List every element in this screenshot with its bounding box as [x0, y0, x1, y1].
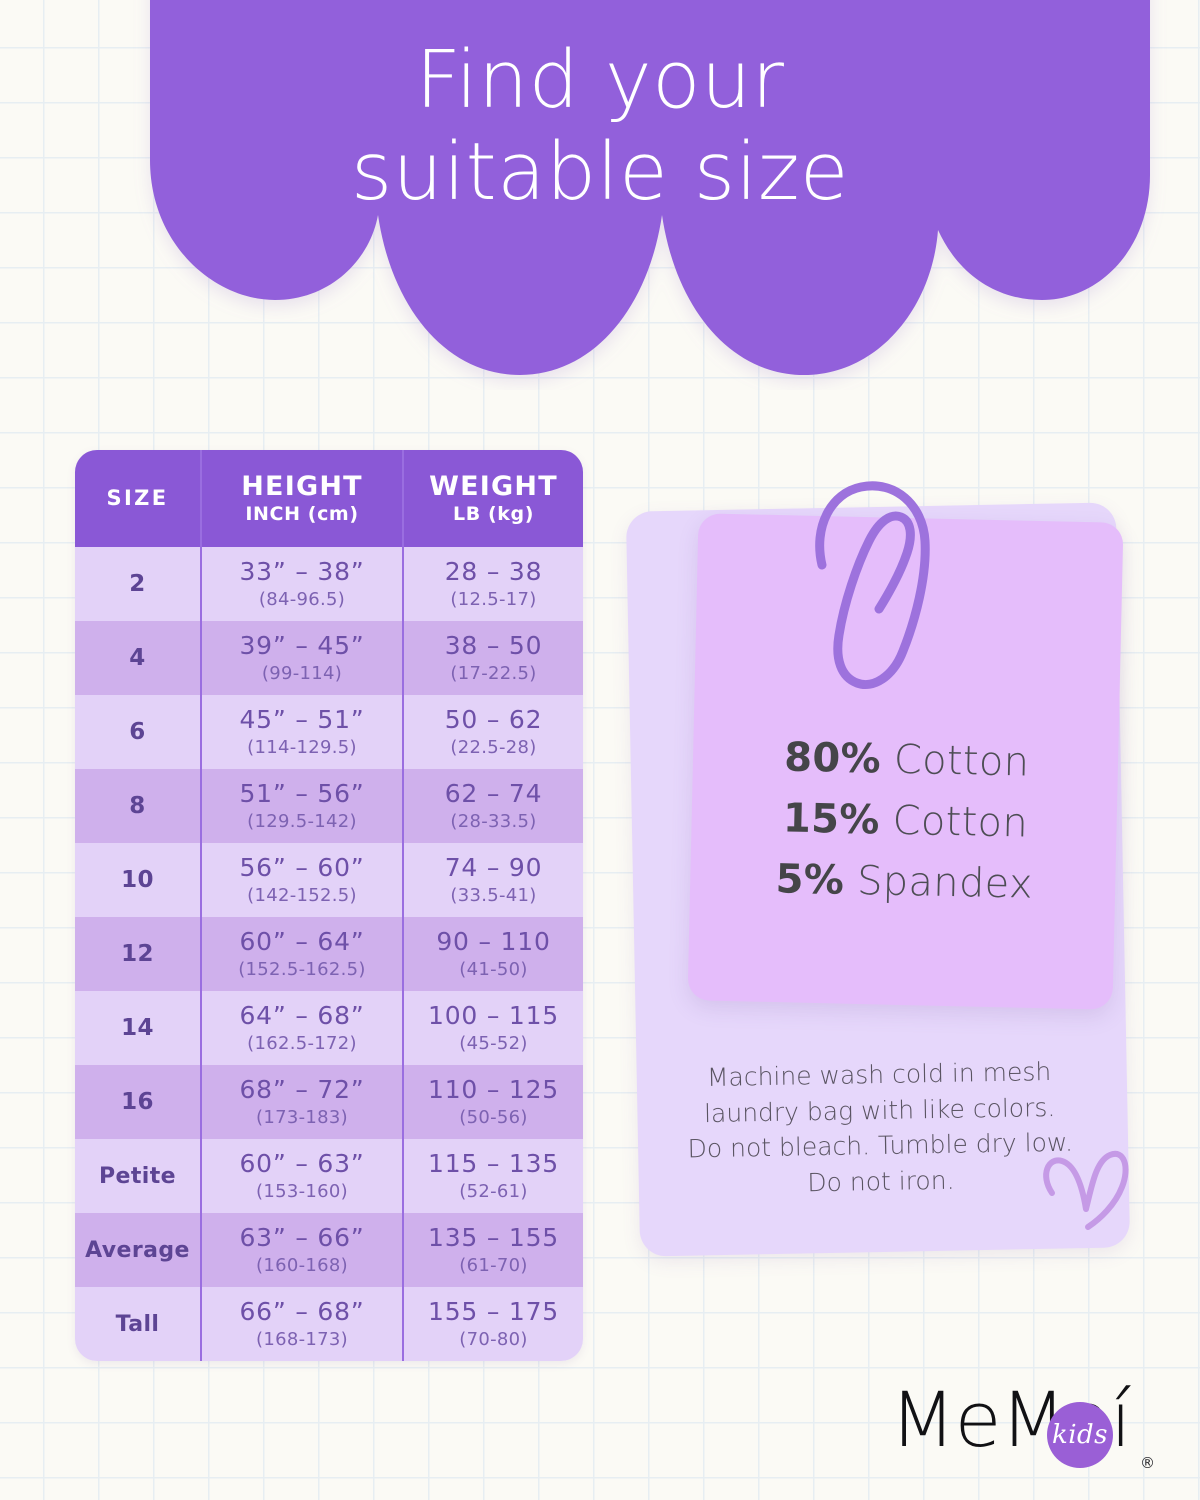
cell-weight-lb: 135 – 155: [428, 1224, 559, 1252]
cell-weight-kg: (41-50): [459, 959, 527, 980]
cell-weight-kg: (50-56): [459, 1107, 527, 1128]
cell-weight-kg: (52-61): [459, 1181, 527, 1202]
cell-height-cm: (152.5-162.5): [238, 959, 366, 980]
cell-size: Petite: [75, 1139, 200, 1213]
cell-size: 2: [75, 547, 200, 621]
cell-size: 4: [75, 621, 200, 695]
cell-weight: 110 – 125(50-56): [402, 1065, 583, 1139]
cell-weight: 62 – 74(28-33.5): [402, 769, 583, 843]
cell-size-value: 4: [129, 645, 145, 671]
cell-weight: 90 – 110(41-50): [402, 917, 583, 991]
cell-height-inches: 63” – 66”: [239, 1224, 364, 1252]
cell-weight: 155 – 175(70-80): [402, 1287, 583, 1361]
cell-size: 6: [75, 695, 200, 769]
cell-height: 64” – 68”(162.5-172): [200, 991, 402, 1065]
table-row: 439” – 45”(99-114)38 – 50(17-22.5): [75, 621, 583, 695]
cell-height: 68” – 72”(173-183): [200, 1065, 402, 1139]
cell-height-inches: 39” – 45”: [239, 632, 364, 660]
cell-size: Tall: [75, 1287, 200, 1361]
column-header-size-label: SIZE: [106, 487, 168, 510]
cell-height: 63” – 66”(160-168): [200, 1213, 402, 1287]
fabric-line: 5% Spandex: [691, 847, 1117, 917]
cell-weight: 115 – 135(52-61): [402, 1139, 583, 1213]
fabric-material: Spandex: [844, 857, 1034, 907]
registered-trademark-symbol: ®: [1140, 1454, 1155, 1472]
cell-height: 33” – 38”(84-96.5): [200, 547, 402, 621]
cell-height-cm: (168-173): [256, 1329, 348, 1350]
cell-height-inches: 66” – 68”: [239, 1298, 364, 1326]
title-line-2: suitable size: [0, 126, 1200, 218]
cell-height-inches: 56” – 60”: [239, 854, 364, 882]
cell-height-cm: (99-114): [262, 663, 342, 684]
cell-size-value: Average: [85, 1238, 190, 1263]
cell-height-inches: 64” – 68”: [239, 1002, 364, 1030]
cell-weight: 135 – 155(61-70): [402, 1213, 583, 1287]
cell-height-inches: 68” – 72”: [239, 1076, 364, 1104]
cell-weight: 38 – 50(17-22.5): [402, 621, 583, 695]
cell-weight-kg: (12.5-17): [450, 589, 536, 610]
table-row: 1056” – 60”(142-152.5)74 – 90(33.5-41): [75, 843, 583, 917]
cell-height: 51” – 56”(129.5-142): [200, 769, 402, 843]
cell-height-inches: 33” – 38”: [239, 558, 364, 586]
cell-weight-lb: 28 – 38: [445, 558, 543, 586]
table-body: 233” – 38”(84-96.5)28 – 38(12.5-17)439” …: [75, 547, 583, 1361]
table-row: 851” – 56”(129.5-142)62 – 74(28-33.5): [75, 769, 583, 843]
cell-weight-lb: 155 – 175: [428, 1298, 559, 1326]
column-header-height-units: INCH (cm): [245, 503, 358, 525]
cell-size: 8: [75, 769, 200, 843]
title-line-1: Find your: [0, 34, 1200, 126]
cell-size: 16: [75, 1065, 200, 1139]
cell-size: Average: [75, 1213, 200, 1287]
cell-height-cm: (160-168): [256, 1255, 348, 1276]
table-row: Average63” – 66”(160-168)135 – 155(61-70…: [75, 1213, 583, 1287]
cell-weight-kg: (17-22.5): [450, 663, 536, 684]
cell-weight-kg: (61-70): [459, 1255, 527, 1276]
cell-height-cm: (162.5-172): [247, 1033, 357, 1054]
cell-weight: 74 – 90(33.5-41): [402, 843, 583, 917]
table-row: 1464” – 68”(162.5-172)100 – 115(45-52): [75, 991, 583, 1065]
cell-weight: 100 – 115(45-52): [402, 991, 583, 1065]
cell-weight-kg: (28-33.5): [450, 811, 536, 832]
cell-weight-lb: 115 – 135: [428, 1150, 559, 1178]
cell-size-value: 10: [121, 867, 154, 893]
table-row: 233” – 38”(84-96.5)28 – 38(12.5-17): [75, 547, 583, 621]
cell-size-value: 12: [121, 941, 154, 967]
brand-logo: MeMoí kids ®: [890, 1382, 1180, 1492]
cell-size-value: 6: [129, 719, 145, 745]
cell-size-value: Petite: [99, 1164, 176, 1189]
cell-height: 60” – 64”(152.5-162.5): [200, 917, 402, 991]
cell-height: 45” – 51”(114-129.5): [200, 695, 402, 769]
cell-size-value: 8: [129, 793, 145, 819]
cell-weight-kg: (45-52): [459, 1033, 527, 1054]
cell-size-value: Tall: [116, 1312, 160, 1337]
table-row: 1668” – 72”(173-183)110 – 125(50-56): [75, 1065, 583, 1139]
cell-weight-lb: 110 – 125: [428, 1076, 559, 1104]
cell-size-value: 2: [129, 571, 145, 597]
cell-height-inches: 45” – 51”: [239, 706, 364, 734]
kids-badge: kids: [1047, 1402, 1113, 1468]
cell-weight-lb: 50 – 62: [445, 706, 543, 734]
fabric-percent: 5%: [775, 856, 844, 903]
cell-height-cm: (142-152.5): [247, 885, 357, 906]
cell-size-value: 14: [121, 1015, 154, 1041]
cell-weight-kg: (33.5-41): [450, 885, 536, 906]
fabric-percent: 15%: [783, 795, 881, 843]
cell-weight-lb: 38 – 50: [445, 632, 543, 660]
paperclip-icon: [795, 469, 965, 699]
fabric-percent: 80%: [784, 734, 882, 782]
cell-weight: 28 – 38(12.5-17): [402, 547, 583, 621]
column-header-height-label: HEIGHT: [241, 472, 362, 502]
cell-height-cm: (114-129.5): [247, 737, 357, 758]
cell-height-cm: (84-96.5): [259, 589, 345, 610]
fabric-material: Cotton: [879, 797, 1028, 846]
cell-height-inches: 60” – 63”: [239, 1150, 364, 1178]
fabric-care-note-stack: 80% Cotton15% Cotton5% Spandex Machine w…: [615, 485, 1135, 1265]
column-header-weight-units: LB (kg): [453, 503, 534, 525]
cell-height: 66” – 68”(168-173): [200, 1287, 402, 1361]
cell-height-cm: (153-160): [256, 1181, 348, 1202]
table-row: 645” – 51”(114-129.5)50 – 62(22.5-28): [75, 695, 583, 769]
cell-height-cm: (129.5-142): [247, 811, 357, 832]
cell-weight-lb: 74 – 90: [445, 854, 543, 882]
column-header-size: SIZE: [75, 450, 200, 547]
cell-weight-lb: 90 – 110: [436, 928, 550, 956]
size-chart-table: SIZE HEIGHT INCH (cm) WEIGHT LB (kg) 233…: [75, 450, 583, 1361]
column-header-weight-label: WEIGHT: [429, 472, 558, 502]
cell-size: 10: [75, 843, 200, 917]
heart-icon: [1030, 1135, 1140, 1245]
table-row: Tall66” – 68”(168-173)155 – 175(70-80): [75, 1287, 583, 1361]
page-title: Find your suitable size: [0, 34, 1200, 219]
cell-weight-lb: 62 – 74: [445, 780, 543, 808]
cell-weight: 50 – 62(22.5-28): [402, 695, 583, 769]
cell-size: 12: [75, 917, 200, 991]
cell-size: 14: [75, 991, 200, 1065]
fabric-composition-list: 80% Cotton15% Cotton5% Spandex: [691, 726, 1120, 917]
cell-height-inches: 51” – 56”: [239, 780, 364, 808]
cell-weight-kg: (70-80): [459, 1329, 527, 1350]
cell-height-inches: 60” – 64”: [239, 928, 364, 956]
fabric-line: 15% Cotton: [692, 786, 1118, 856]
cell-height: 39” – 45”(99-114): [200, 621, 402, 695]
fabric-material: Cotton: [880, 736, 1029, 785]
cell-weight-lb: 100 – 115: [428, 1002, 559, 1030]
cell-height-cm: (173-183): [256, 1107, 348, 1128]
column-header-weight: WEIGHT LB (kg): [402, 450, 583, 547]
cell-height: 56” – 60”(142-152.5): [200, 843, 402, 917]
cell-height: 60” – 63”(153-160): [200, 1139, 402, 1213]
fabric-line: 80% Cotton: [694, 726, 1120, 796]
cell-size-value: 16: [121, 1089, 154, 1115]
column-header-height: HEIGHT INCH (cm): [200, 450, 402, 547]
table-row: Petite60” – 63”(153-160)115 – 135(52-61): [75, 1139, 583, 1213]
cell-weight-kg: (22.5-28): [450, 737, 536, 758]
table-row: 1260” – 64”(152.5-162.5)90 – 110(41-50): [75, 917, 583, 991]
table-header-row: SIZE HEIGHT INCH (cm) WEIGHT LB (kg): [75, 450, 583, 547]
